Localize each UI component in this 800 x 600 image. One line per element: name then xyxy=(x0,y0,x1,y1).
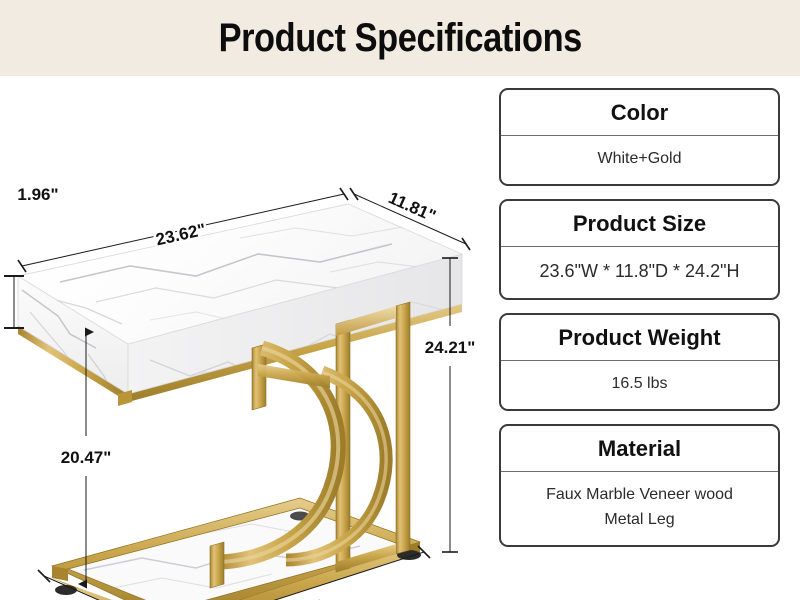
spec-box-product-size: Product Size 23.6"W * 11.8"D * 24.2"H xyxy=(499,199,780,300)
page-title: Product Specifications xyxy=(218,16,581,61)
spec-box-product-weight: Product Weight 16.5 lbs xyxy=(499,313,780,411)
spec-box-material: Material Faux Marble Veneer wood Metal L… xyxy=(499,424,780,547)
spec-value-material: Faux Marble Veneer wood Metal Leg xyxy=(501,472,778,545)
spec-value-material-line-2: Metal Leg xyxy=(507,508,772,533)
spec-value-product-weight: 16.5 lbs xyxy=(501,361,778,409)
spec-value-product-size-line-1: 23.6"W * 11.8"D * 24.2"H xyxy=(507,258,772,286)
spec-value-color: White+Gold xyxy=(501,136,778,184)
specifications-panel: Color White+Gold Product Size 23.6"W * 1… xyxy=(499,88,780,560)
header-banner: Product Specifications xyxy=(0,0,800,76)
dimension-label-clearance: 20.47" xyxy=(61,448,112,467)
spec-value-color-line-1: White+Gold xyxy=(507,147,772,172)
table-foot xyxy=(55,585,77,595)
spec-title-product-size: Product Size xyxy=(501,201,778,247)
spec-value-material-line-1: Faux Marble Veneer wood xyxy=(507,483,772,508)
tabletop xyxy=(18,204,462,402)
dimension-label-top-thickness: 1.96" xyxy=(17,185,58,204)
product-diagram-svg: 23.62" 11.81" 1.96" 20.47" 24.21" 11.81"… xyxy=(0,76,490,600)
spec-box-color: Color White+Gold xyxy=(499,88,780,186)
spec-title-color: Color xyxy=(501,90,778,136)
dimension-label-total-height: 24.21" xyxy=(425,338,476,357)
spec-value-product-weight-line-1: 16.5 lbs xyxy=(507,372,772,397)
spec-title-material: Material xyxy=(501,426,778,472)
spec-title-product-weight: Product Weight xyxy=(501,315,778,361)
product-diagram: 23.62" 11.81" 1.96" 20.47" 24.21" 11.81"… xyxy=(0,76,490,600)
spec-value-product-size: 23.6"W * 11.8"D * 24.2"H xyxy=(501,247,778,298)
